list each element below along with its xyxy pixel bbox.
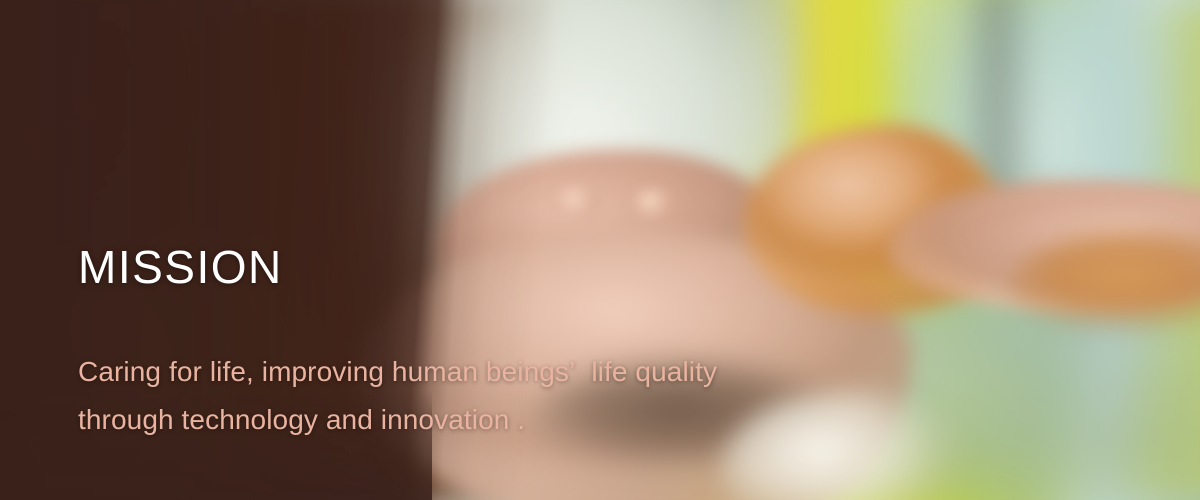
mission-statement-line-1: Caring for life, improving human beings’… (78, 348, 938, 396)
mission-statement-line-1-part-1: Caring for life, improving human beings’ (78, 356, 575, 387)
mission-statement: Caring for life, improving human beings’… (78, 290, 938, 444)
photo-lower-hand (1008, 230, 1200, 340)
photo-skin-texture (960, 200, 1200, 270)
mission-hero-banner: MISSION Caring for life, improving human… (0, 0, 1200, 500)
background-hivis-vest-edge (1104, 0, 1200, 500)
mission-statement-line-2: through technology and innovation . (78, 396, 938, 444)
photo-knuckle-highlight (552, 185, 602, 220)
mission-text-block: MISSION Caring for life, improving human… (78, 244, 938, 444)
background-teal-shadow (960, 0, 1038, 230)
mission-statement-line-1-part-2: life quality (591, 356, 717, 387)
photo-knuckle-highlight (630, 188, 678, 221)
page-title: MISSION (78, 244, 938, 290)
